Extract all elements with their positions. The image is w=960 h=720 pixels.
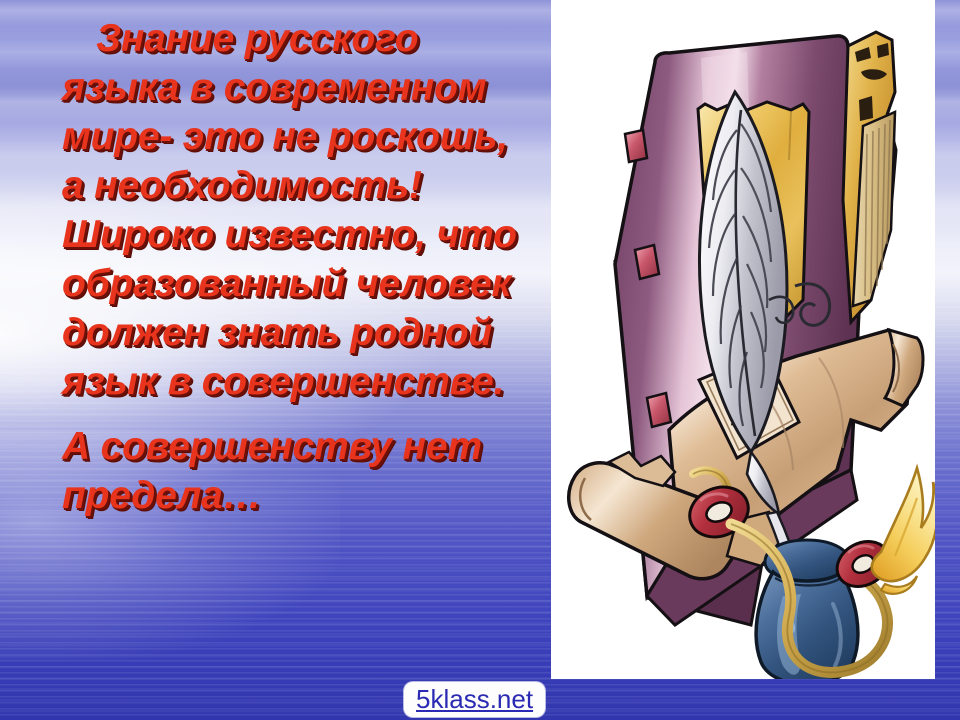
- watermark-badge[interactable]: 5klass.net: [404, 682, 545, 717]
- paragraph-primary: Знание русского языка в современном мире…: [62, 14, 532, 406]
- slide-text-block: Знание русского языка в современном мире…: [62, 14, 532, 520]
- paragraph-secondary: А совершенству нет предела…: [62, 422, 532, 520]
- book-quill-inkwell-illustration: А: [551, 0, 935, 679]
- watermark-text[interactable]: 5klass.net: [416, 685, 533, 713]
- presentation-slide: Знание русского языка в современном мире…: [0, 0, 960, 720]
- illustration-panel: А: [551, 0, 935, 679]
- flame: [872, 468, 935, 581]
